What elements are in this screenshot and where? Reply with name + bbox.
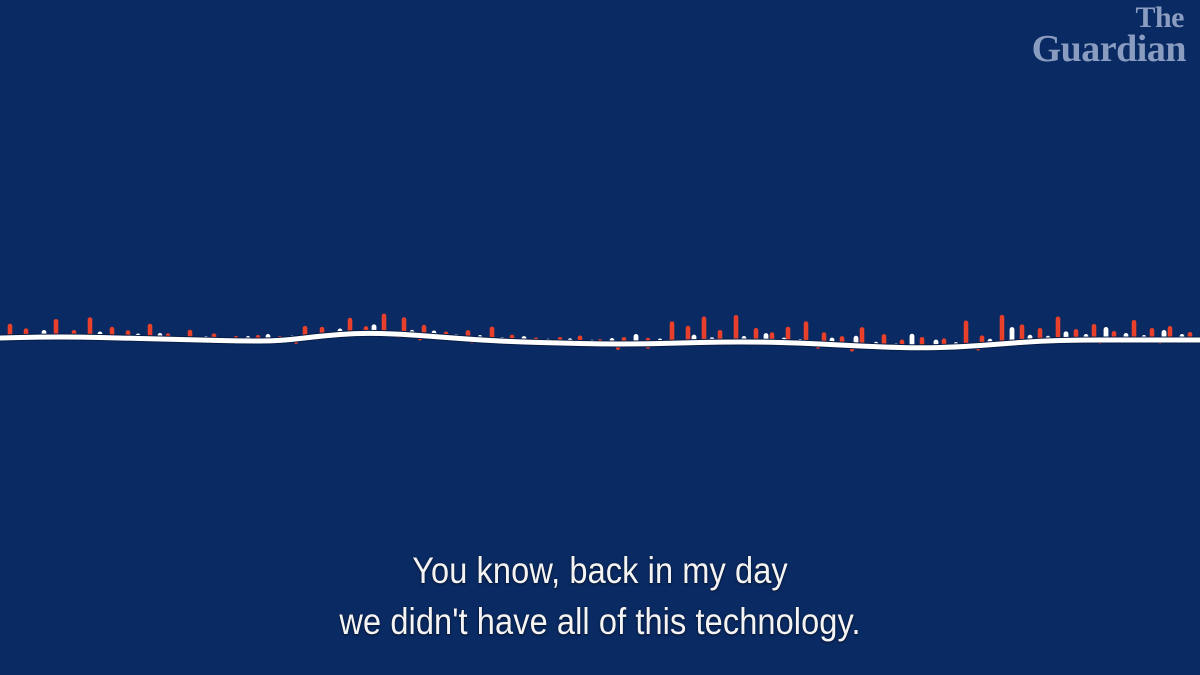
waveform-bar — [734, 315, 739, 342]
video-still: The Guardian You know, back in my day we… — [0, 0, 1200, 675]
subtitle-line-1: You know, back in my day — [72, 545, 1128, 596]
the-guardian-logo: The Guardian — [1032, 4, 1186, 67]
waveform-canvas — [0, 270, 1200, 380]
audio-waveform — [0, 270, 1200, 380]
subtitle-caption: You know, back in my day we didn't have … — [72, 545, 1128, 647]
waveform-bar — [1000, 315, 1005, 344]
waveform-bar — [702, 316, 707, 342]
waveform-bar — [964, 321, 969, 347]
subtitle-line-2: we didn't have all of this technology. — [72, 596, 1128, 647]
waveform-bar — [1056, 317, 1061, 341]
logo-line-guardian: Guardian — [1032, 32, 1186, 67]
